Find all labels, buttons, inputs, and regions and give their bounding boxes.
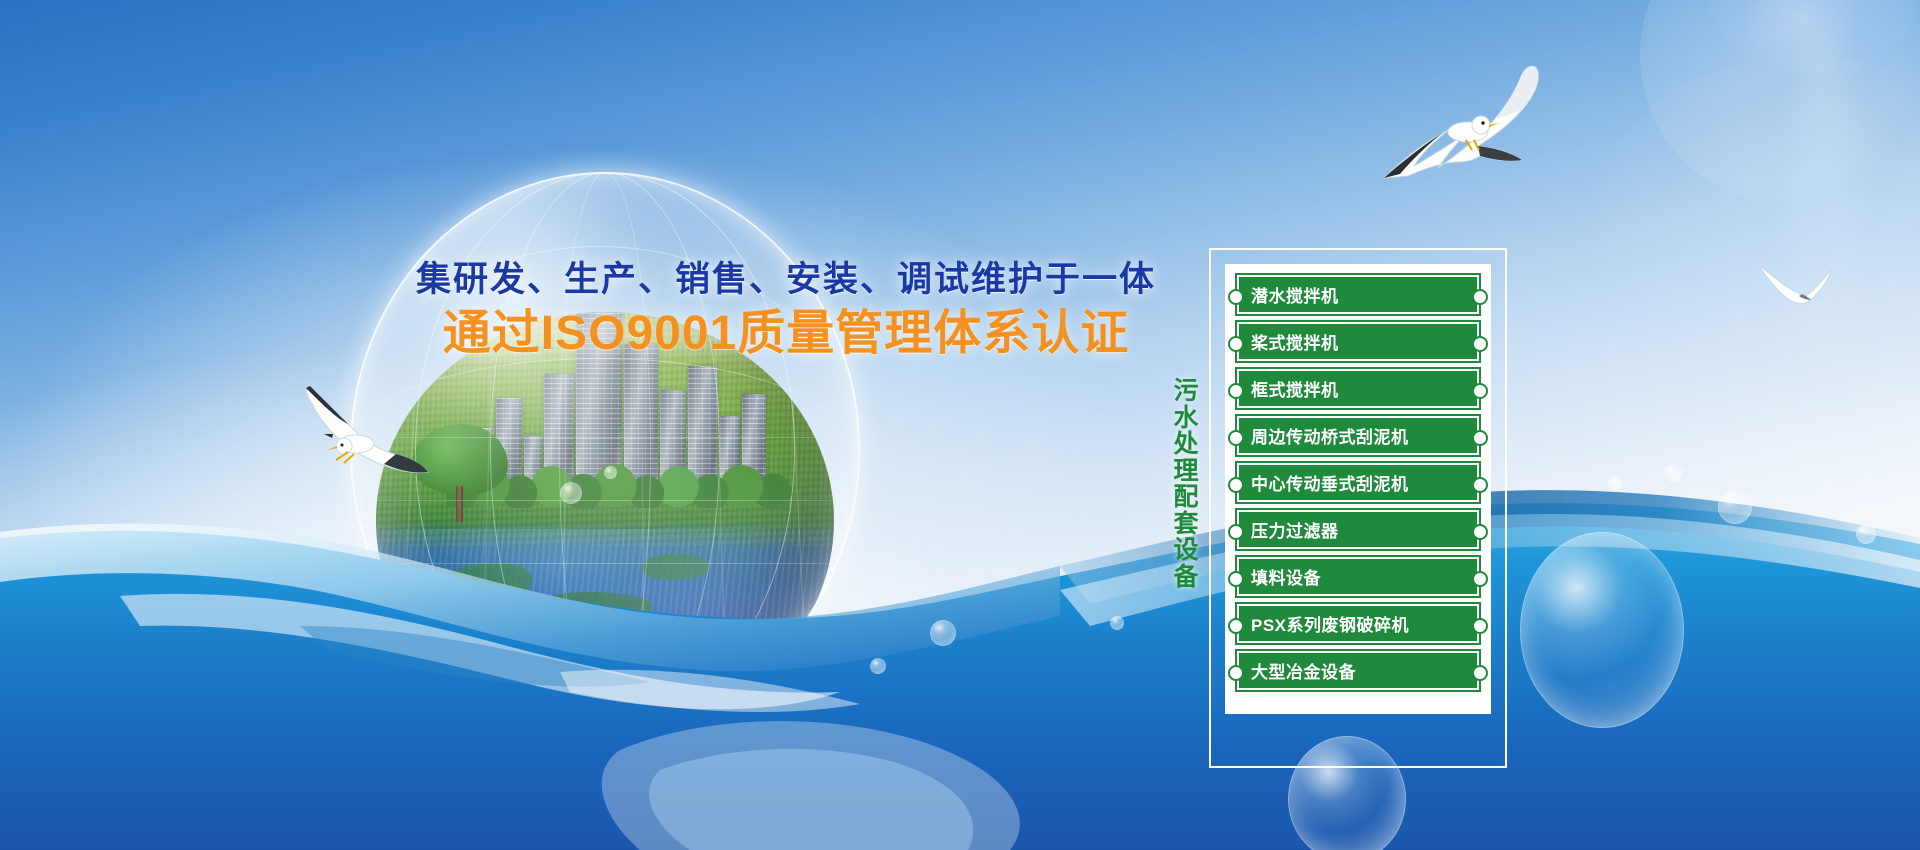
product-item-large-metallurgical-equipment[interactable]: 大型冶金设备 [1237, 651, 1479, 690]
lens-glare-icon [1700, 0, 1920, 80]
product-panel-vertical-title: 污 水 处 理 配 套 设 备 [1168, 378, 1204, 590]
product-item-label: 潜水搅拌机 [1239, 282, 1339, 307]
hero-banner: 集研发、生产、销售、安装、调试维护于一体 通过ISO9001质量管理体系认证 污… [0, 0, 1920, 850]
product-list: 潜水搅拌机 桨式搅拌机 框式搅拌机 周边传动桥式刮泥机 中心传动垂式刮泥机 压力… [1225, 264, 1491, 714]
lens-glare-icon [1640, 0, 1920, 205]
product-item-center-drive-vertical-scraper[interactable]: 中心传动垂式刮泥机 [1237, 463, 1479, 502]
vtitle-char: 套 [1168, 511, 1204, 538]
water-bubble-icon [930, 620, 956, 646]
seagull-icon [1758, 262, 1836, 312]
lens-glare-icon [1790, 30, 1860, 460]
product-item-paddle-mixer[interactable]: 桨式搅拌机 [1237, 322, 1479, 361]
vtitle-char: 污 [1168, 378, 1204, 405]
product-item-label: PSX系列废钢破碎机 [1239, 611, 1409, 636]
product-item-label: 框式搅拌机 [1239, 376, 1339, 401]
vtitle-char: 处 [1168, 431, 1204, 458]
product-item-label: 压力过滤器 [1239, 517, 1339, 542]
lens-glare-icon [1742, 0, 1862, 80]
product-item-label: 填料设备 [1239, 564, 1321, 589]
vtitle-char: 水 [1168, 405, 1204, 432]
vtitle-char: 设 [1168, 537, 1204, 564]
water-bubble-icon [1520, 532, 1684, 728]
water-scene [0, 420, 1920, 850]
water-bubble-icon [1110, 616, 1124, 630]
product-item-frame-mixer[interactable]: 框式搅拌机 [1237, 369, 1479, 408]
vtitle-char: 理 [1168, 458, 1204, 485]
seagull-icon [292, 372, 432, 482]
headline-line-1: 集研发、生产、销售、安装、调试维护于一体 [376, 258, 1196, 302]
product-item-pressure-filter[interactable]: 压力过滤器 [1237, 510, 1479, 549]
water-bubble-icon [1718, 490, 1752, 524]
product-item-submersible-mixer[interactable]: 潜水搅拌机 [1237, 275, 1479, 314]
water-bubble-icon [870, 658, 886, 674]
product-item-peripheral-drive-bridge-scraper[interactable]: 周边传动桥式刮泥机 [1237, 416, 1479, 455]
product-item-packing-equipment[interactable]: 填料设备 [1237, 557, 1479, 596]
headline-line-2: 通过ISO9001质量管理体系认证 [376, 306, 1196, 363]
lens-glare-icon [1596, 58, 1920, 388]
product-item-psx-scrap-shredder[interactable]: PSX系列废钢破碎机 [1237, 604, 1479, 643]
water-bubble-icon [604, 466, 617, 479]
vtitle-char: 配 [1168, 484, 1204, 511]
vtitle-char: 备 [1168, 564, 1204, 591]
product-item-label: 周边传动桥式刮泥机 [1239, 423, 1409, 448]
product-item-label: 桨式搅拌机 [1239, 329, 1339, 354]
water-bubble-icon [1856, 524, 1876, 544]
water-bubble-icon [1664, 464, 1682, 482]
product-item-label: 大型冶金设备 [1239, 658, 1356, 683]
water-bubble-icon [560, 482, 582, 504]
headline-block: 集研发、生产、销售、安装、调试维护于一体 通过ISO9001质量管理体系认证 [376, 258, 1196, 362]
product-panel: 潜水搅拌机 桨式搅拌机 框式搅拌机 周边传动桥式刮泥机 中心传动垂式刮泥机 压力… [1209, 248, 1507, 768]
product-item-label: 中心传动垂式刮泥机 [1239, 470, 1409, 495]
water-bubble-icon [1608, 476, 1622, 490]
seagull-icon [1382, 62, 1542, 197]
